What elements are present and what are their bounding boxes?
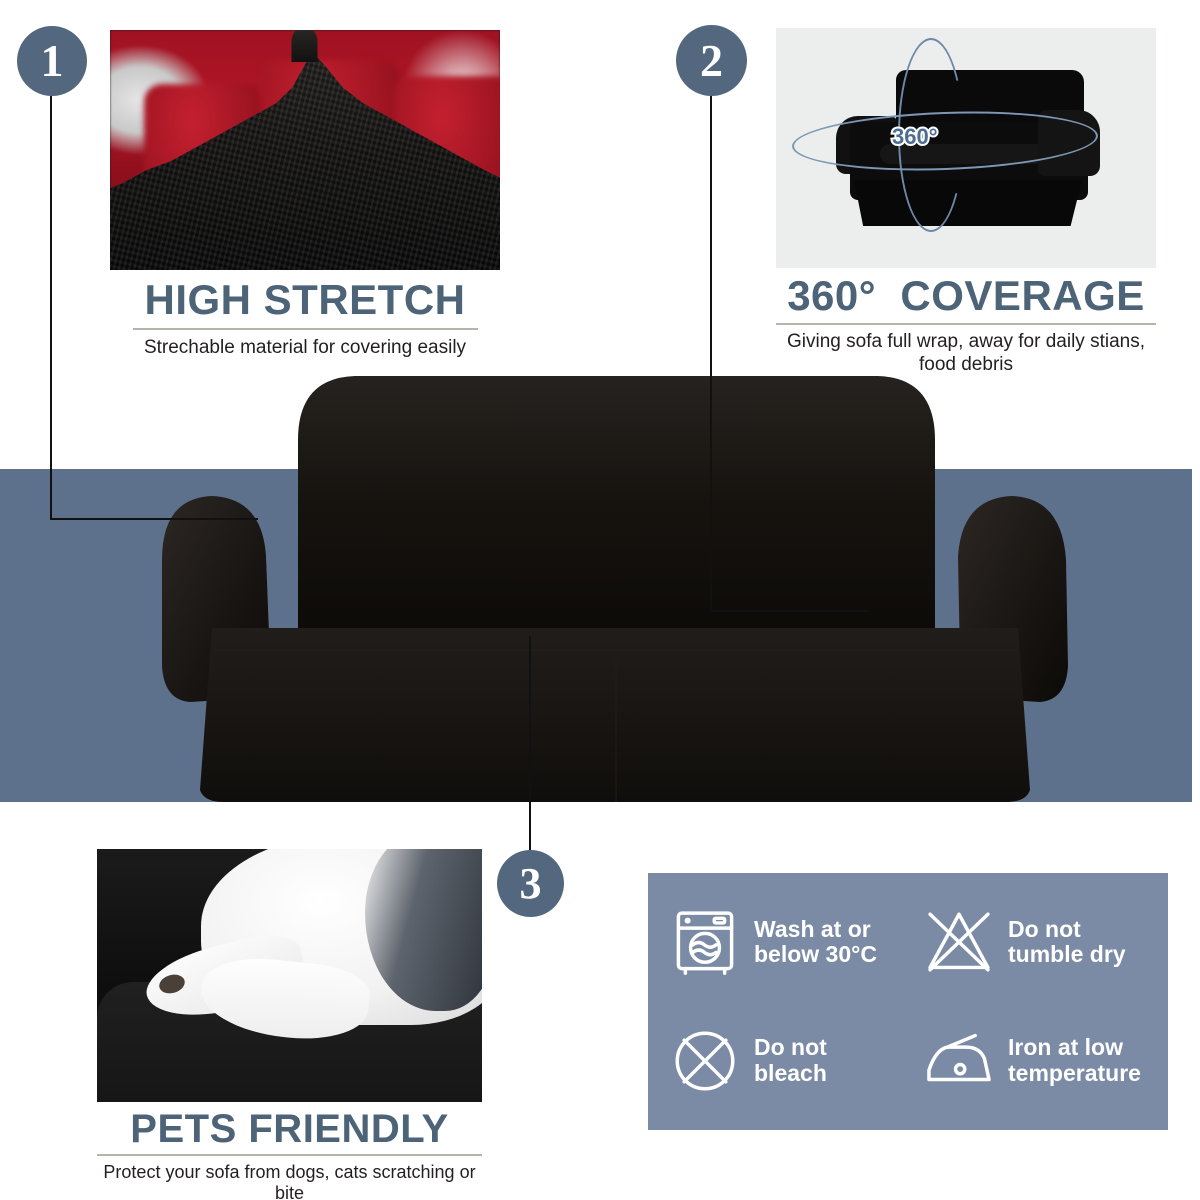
care-text-wash: Wash at or below 30°C [754,917,877,969]
no-bleach-icon [668,1024,742,1098]
high-stretch-title: HIGH STRETCH [110,278,500,322]
high-stretch-photo [110,30,500,270]
callout-line-1-vertical [50,96,52,520]
pets-friendly-subtitle: Protect your sofa from dogs, cats scratc… [97,1162,482,1200]
care-text-no-tumble-dry: Do not tumble dry [1008,917,1126,969]
feature-high-stretch: HIGH STRETCH Strechable material for cov… [110,30,500,360]
care-item-wash: Wash at or below 30°C [654,905,908,979]
pets-friendly-photo [97,849,482,1102]
care-instructions-panel: Wash at or below 30°C Do not tumble dry … [648,873,1168,1130]
callout-line-3-vertical [529,636,531,852]
pets-friendly-title: PETS FRIENDLY [97,1108,482,1150]
hero-sofa-image [150,360,1080,805]
pets-friendly-divider [97,1154,482,1156]
badge-360-label: 360° [892,124,938,150]
care-item-iron: Iron at low temperature [908,1024,1162,1098]
care-item-no-bleach: Do not bleach [654,1024,908,1098]
step-marker-3: 3 [497,850,564,917]
care-item-no-tumble-dry: Do not tumble dry [908,905,1162,979]
callout-line-2-horizontal [710,610,868,612]
care-text-no-bleach: Do not bleach [754,1035,827,1087]
callout-line-1-horizontal [50,518,258,520]
iron-low-temp-icon [922,1024,996,1098]
care-text-iron: Iron at low temperature [1008,1035,1141,1087]
coverage-subtitle: Giving sofa full wrap, away for daily st… [776,331,1156,376]
coverage-illustration: 360° [776,28,1156,268]
no-tumble-dry-icon [922,905,996,979]
step-marker-1: 1 [17,26,87,96]
high-stretch-subtitle: Strechable material for covering easily [110,337,500,359]
product-infographic: 1 2 3 HIGH STRETCH Strechable material f… [0,0,1200,1200]
coverage-divider [776,323,1156,325]
high-stretch-divider [133,328,478,330]
feature-pets-friendly: PETS FRIENDLY Protect your sofa from dog… [97,849,482,1200]
step-marker-2: 2 [676,25,747,96]
coverage-title: 360° COVERAGE [776,274,1156,318]
washing-machine-icon [668,905,742,979]
callout-line-2-vertical [710,96,712,612]
feature-360-coverage: 360° 360° COVERAGE Giving sofa full wrap… [776,28,1156,376]
